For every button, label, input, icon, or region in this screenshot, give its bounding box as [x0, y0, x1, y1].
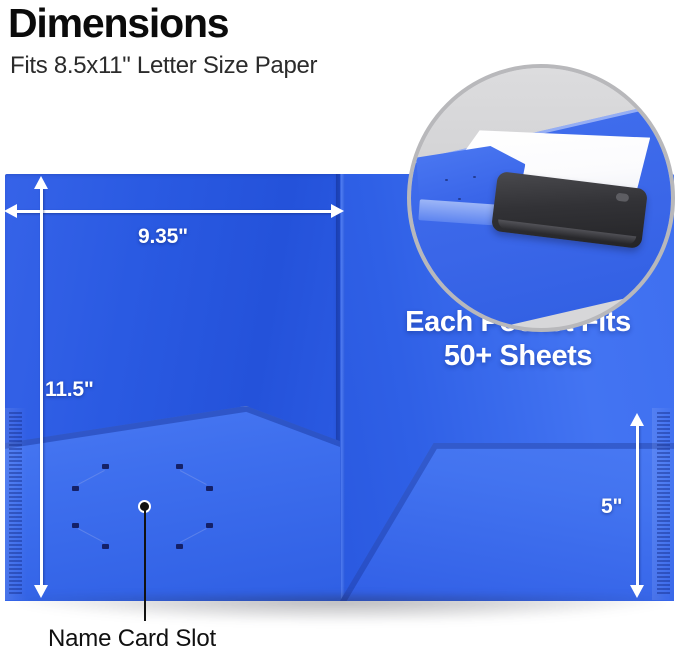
- slot-mark: [176, 544, 183, 549]
- slot-mark: [176, 464, 183, 469]
- capacity-callout-line2: 50+ Sheets: [372, 340, 664, 374]
- right-edge-texture: [657, 412, 670, 596]
- inset-slot-mark: [445, 179, 448, 181]
- slot-mark: [206, 486, 213, 491]
- pocket-arrow-up: [630, 413, 644, 426]
- width-dimension-label: 9.35": [138, 225, 188, 249]
- slot-mark: [72, 486, 79, 491]
- slot-seam: [78, 470, 105, 485]
- inset-slot-mark: [458, 198, 461, 200]
- name-card-slot-leader-line: [144, 508, 146, 621]
- width-dimension-line: [14, 210, 334, 213]
- page-title: Dimensions: [8, 2, 228, 45]
- width-arrow-left: [4, 204, 17, 218]
- folder-drop-shadow: [18, 596, 663, 622]
- pocket-capacity-photo: [407, 64, 675, 332]
- name-card-slot: [62, 450, 232, 540]
- pocket-dimension-line: [636, 425, 639, 587]
- height-arrow-down: [34, 585, 48, 598]
- height-arrow-up: [34, 176, 48, 189]
- slot-mark: [102, 464, 109, 469]
- slot-mark: [206, 523, 213, 528]
- page-subtitle: Fits 8.5x11" Letter Size Paper: [10, 53, 317, 79]
- slot-mark: [102, 544, 109, 549]
- slot-seam: [180, 470, 207, 485]
- left-edge-texture: [9, 412, 22, 596]
- height-dimension-label: 11.5": [45, 378, 94, 402]
- inset-phone-camera: [615, 193, 629, 203]
- name-card-slot-caption: Name Card Slot: [48, 625, 216, 653]
- pocket-dimension-label: 5": [601, 495, 622, 519]
- inset-slot-mark: [473, 176, 476, 178]
- width-arrow-right: [331, 204, 344, 218]
- product-infographic: Dimensions Fits 8.5x11" Letter Size Pape…: [0, 0, 679, 659]
- pocket-arrow-down: [630, 585, 644, 598]
- height-dimension-line: [40, 188, 43, 588]
